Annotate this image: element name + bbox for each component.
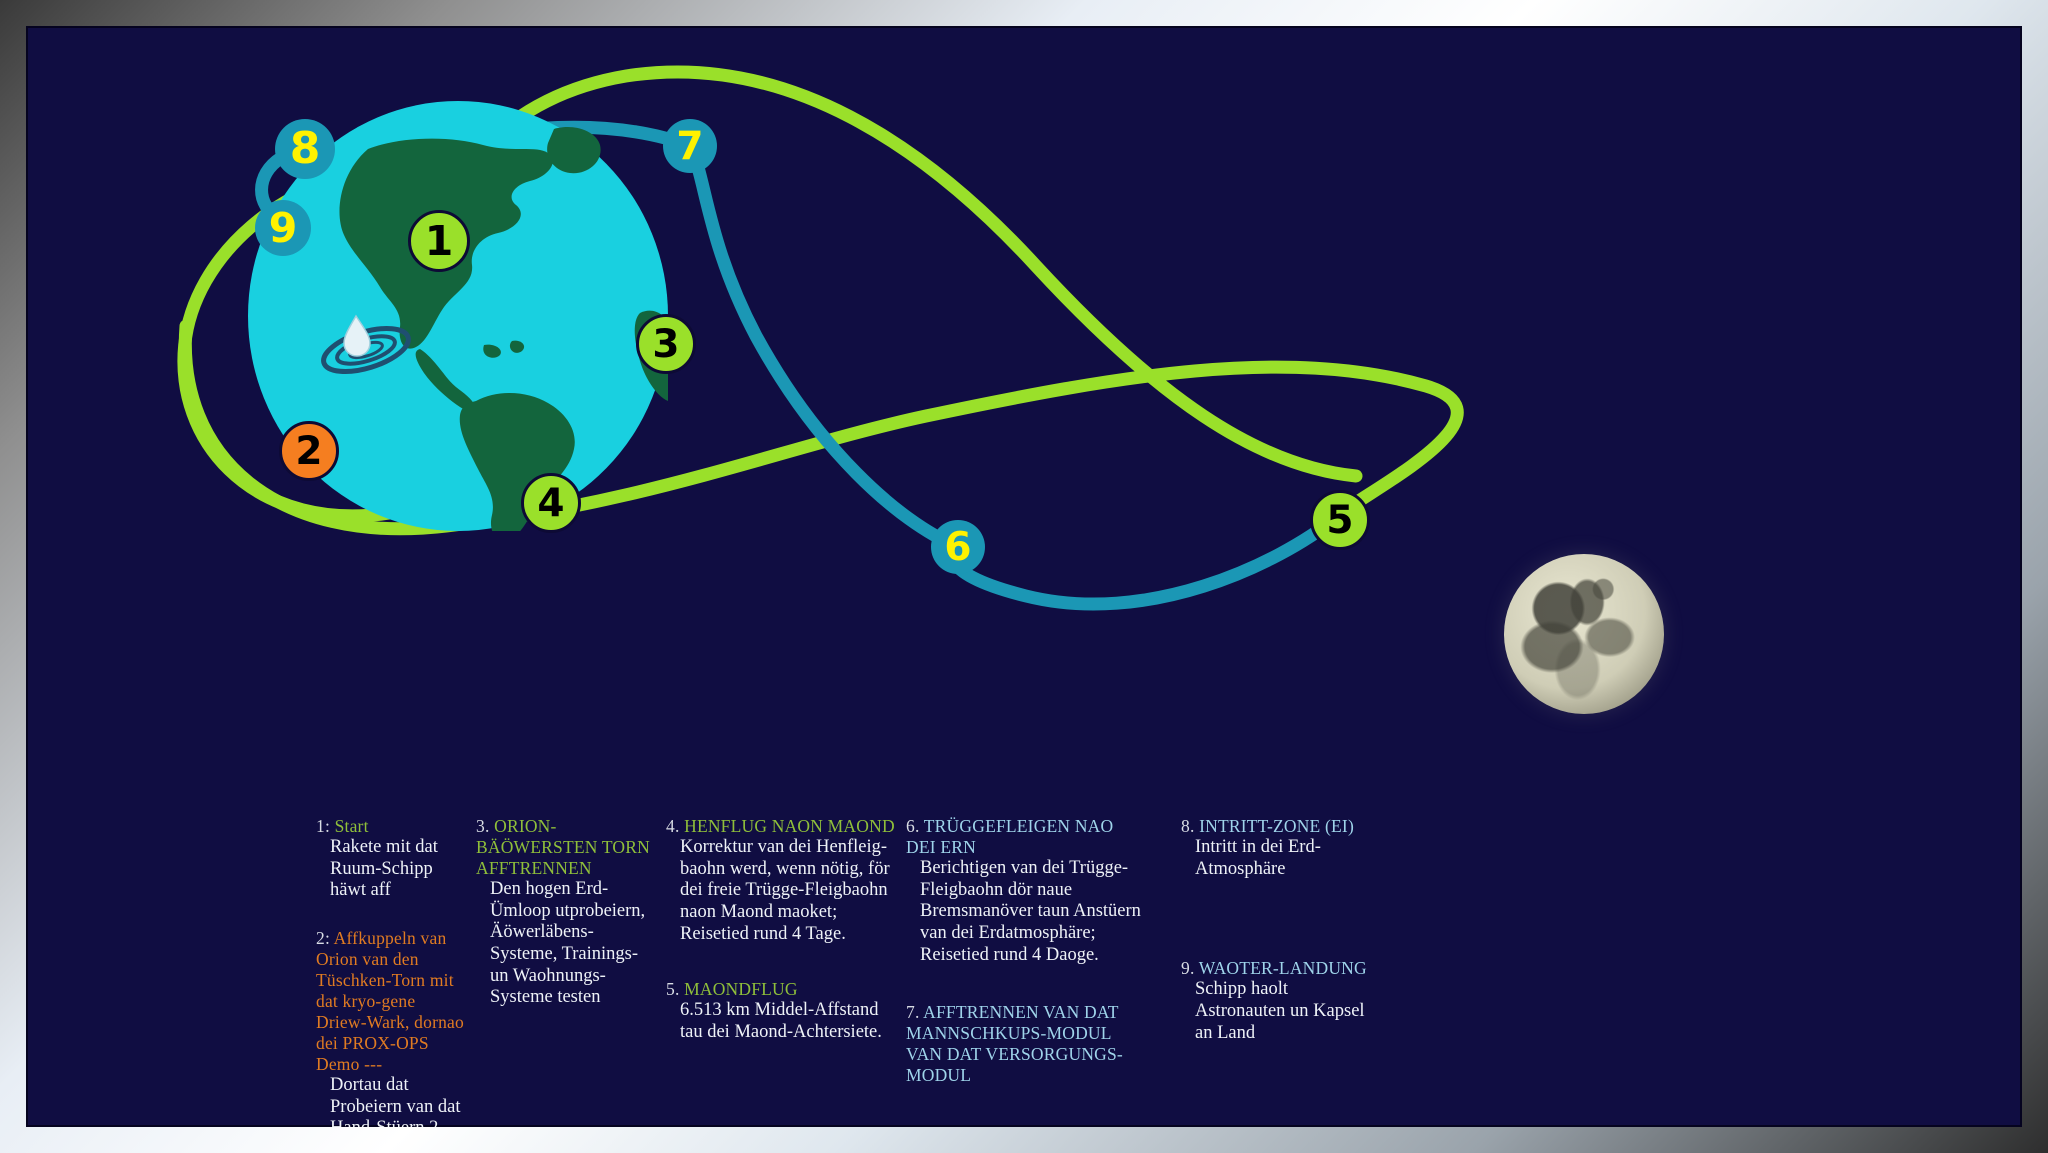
legend-column-5: 8. INTRITT-ZONE (EI)Intritt in dei Erd-A… [1181,816,1371,1054]
legend-item[interactable]: 3. ORION-BÄÖWERSTEN TORN AFFTRENNENDen h… [476,816,656,1009]
legend-item[interactable]: 9. WAOTER-LANDUNGSchipp haolt Astronaute… [1181,958,1371,1044]
legend-item[interactable]: 5. MAONDFLUG6.513 km Middel-Affstand tau… [666,979,896,1043]
step-marker-2[interactable]: 2 [279,421,339,481]
legend-item-heading-text: ORION-BÄÖWERSTEN TORN AFFTRENNEN [476,816,650,878]
legend-item-heading-text: WAOTER-LANDUNG [1199,958,1367,978]
legend-column-1: 1: StartRakete mit dat Ruum-Schipp häwt … [316,816,466,1127]
legend-item-heading: 2: Affkuppeln van Orion van den Tüschken… [316,928,466,1075]
step-marker-label: 8 [290,127,321,171]
step-marker-label: 9 [269,208,298,249]
legend-item[interactable]: 4. HENFLUG NAON MAONDKorrektur van dei H… [666,816,896,945]
legend-item-heading-text: INTRITT-ZONE (EI) [1199,816,1354,836]
legend-item[interactable]: 7. AFFTRENNEN VAN DAT MANNSCHKUPS-MODUL … [906,1002,1141,1086]
legend-item-heading: 4. HENFLUG NAON MAOND [666,816,896,837]
legend-item-heading-text: AFFTRENNEN VAN DAT MANNSCHKUPS-MODUL VAN… [906,1002,1123,1085]
step-marker-9[interactable]: 9 [255,200,311,256]
legend-item-number: 2: [316,928,334,948]
step-marker-4[interactable]: 4 [521,473,581,533]
legend-item-body: Den hogen Erd-Ümloop utprobeiern, Äöwerl… [476,879,656,1009]
legend-item-body: Schipp haolt Astronauten un Kapsel an La… [1181,979,1371,1044]
teal-return-path [690,146,1337,604]
legend-item-heading: 6. TRÜGGEFLEIGEN NAO DEI ERN [906,816,1141,858]
splash-down-icon [318,308,414,378]
legend-item-number: 8. [1181,816,1199,836]
legend-item[interactable]: 2: Affkuppeln van Orion van den Tüschken… [316,928,466,1127]
step-marker-5[interactable]: 5 [1310,490,1370,550]
legend-item[interactable]: 8. INTRITT-ZONE (EI)Intritt in dei Erd-A… [1181,816,1371,880]
legend-item-body: Rakete mit dat Ruum-Schipp häwt aff [316,837,466,902]
legend-item[interactable]: 6. TRÜGGEFLEIGEN NAO DEI ERNBerichtigen … [906,816,1141,966]
step-marker-label: 6 [944,528,971,567]
legend-column-2: 3. ORION-BÄÖWERSTEN TORN AFFTRENNENDen h… [476,816,656,1019]
step-marker-6[interactable]: 6 [931,520,985,574]
legend-item-heading-text: Affkuppeln van Orion van den Tüschken-To… [316,928,464,1074]
step-marker-3[interactable]: 3 [636,314,696,374]
legend-item-heading: 7. AFFTRENNEN VAN DAT MANNSCHKUPS-MODUL … [906,1002,1141,1086]
step-marker-label: 3 [652,325,679,364]
legend-item-heading-text: MAONDFLUG [684,979,798,999]
picture-frame: 123456789 1: StartRakete mit dat Ruum-Sc… [0,0,2048,1153]
step-marker-label: 7 [676,127,703,166]
legend-item-body: 6.513 km Middel-Affstand tau dei Maond-A… [666,1000,896,1043]
moon [1504,554,1664,714]
diagram-canvas: 123456789 1: StartRakete mit dat Ruum-Sc… [26,26,2022,1127]
legend-item-body: Intritt in dei Erd-Atmosphäre [1181,837,1371,880]
step-marker-label: 5 [1326,501,1353,540]
legend-item-heading-text: HENFLUG NAON MAOND [684,816,895,836]
legend-item-number: 6. [906,816,924,836]
legend-item[interactable]: 1: StartRakete mit dat Ruum-Schipp häwt … [316,816,466,902]
legend-item-number: 3. [476,816,494,836]
legend-column-3: 4. HENFLUG NAON MAONDKorrektur van dei H… [666,816,896,1053]
step-marker-8[interactable]: 8 [275,119,335,179]
legend-item-heading: 8. INTRITT-ZONE (EI) [1181,816,1371,837]
step-marker-7[interactable]: 7 [663,119,717,173]
legend-item-heading: 9. WAOTER-LANDUNG [1181,958,1371,979]
legend-item-body: Berichtigen van dei Trügge-Fleigbaohn dö… [906,858,1141,966]
step-marker-label: 2 [295,432,322,471]
step-marker-1[interactable]: 1 [408,210,470,272]
step-marker-label: 4 [537,484,564,523]
legend-item-number: 4. [666,816,684,836]
step-marker-label: 1 [425,221,454,262]
legend: 1: StartRakete mit dat Ruum-Schipp häwt … [26,816,2022,1127]
legend-item-body: Korrektur van dei Henfleig-baohn werd, w… [666,837,896,945]
legend-item-number: 5. [666,979,684,999]
legend-item-number: 1: [316,816,335,836]
legend-item-body: Dortau dat Probeiern van dat Hand-Stüern… [316,1075,466,1127]
legend-item-heading: 5. MAONDFLUG [666,979,896,1000]
legend-item-heading-text: TRÜGGEFLEIGEN NAO DEI ERN [906,816,1113,857]
legend-column-4: 6. TRÜGGEFLEIGEN NAO DEI ERNBerichtigen … [906,816,1141,1096]
legend-item-heading: 3. ORION-BÄÖWERSTEN TORN AFFTRENNEN [476,816,656,879]
legend-item-heading: 1: Start [316,816,466,837]
legend-item-heading-text: Start [335,816,369,836]
legend-item-number: 9. [1181,958,1199,978]
legend-item-number: 7. [906,1002,923,1022]
